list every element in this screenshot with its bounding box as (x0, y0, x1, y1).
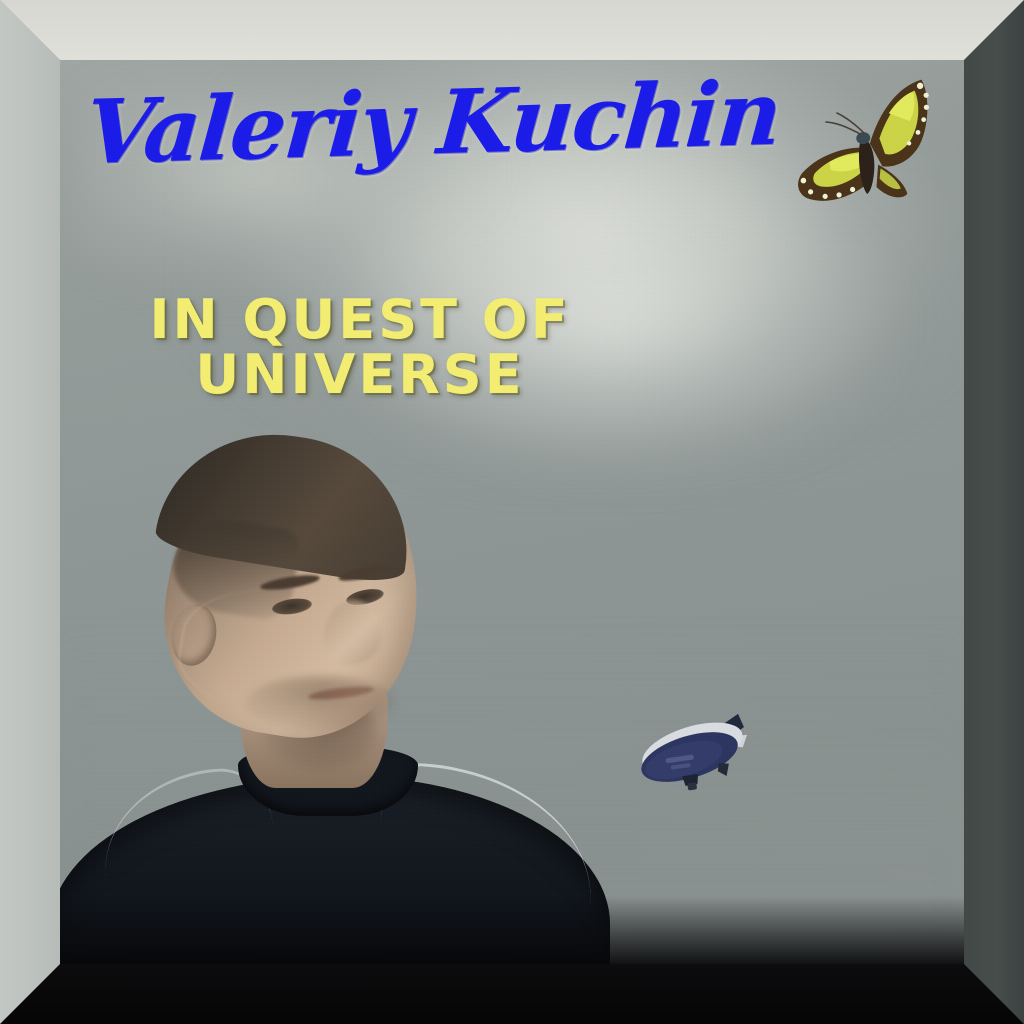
album-title-line-1: IN QUEST OF (80, 292, 640, 347)
frame-bevel-bottom (0, 962, 1024, 1024)
frame-bevel-left (0, 0, 62, 1024)
cover-artwork: Valeriy Kuchin IN QUEST OF UNIVERSE (60, 60, 964, 966)
album-title-line-2: UNIVERSE (80, 347, 640, 402)
frame-bevel-top (0, 0, 1024, 60)
artist-name: Valeriy Kuchin (83, 71, 710, 177)
chin-shadow (246, 676, 396, 730)
blimp-icon (626, 703, 768, 815)
album-title: IN QUEST OF UNIVERSE (80, 292, 640, 402)
butterfly-icon (778, 74, 952, 235)
frame-bevel-right (962, 0, 1024, 1024)
portrait-man (60, 546, 610, 966)
album-cover: Valeriy Kuchin IN QUEST OF UNIVERSE (0, 0, 1024, 1024)
